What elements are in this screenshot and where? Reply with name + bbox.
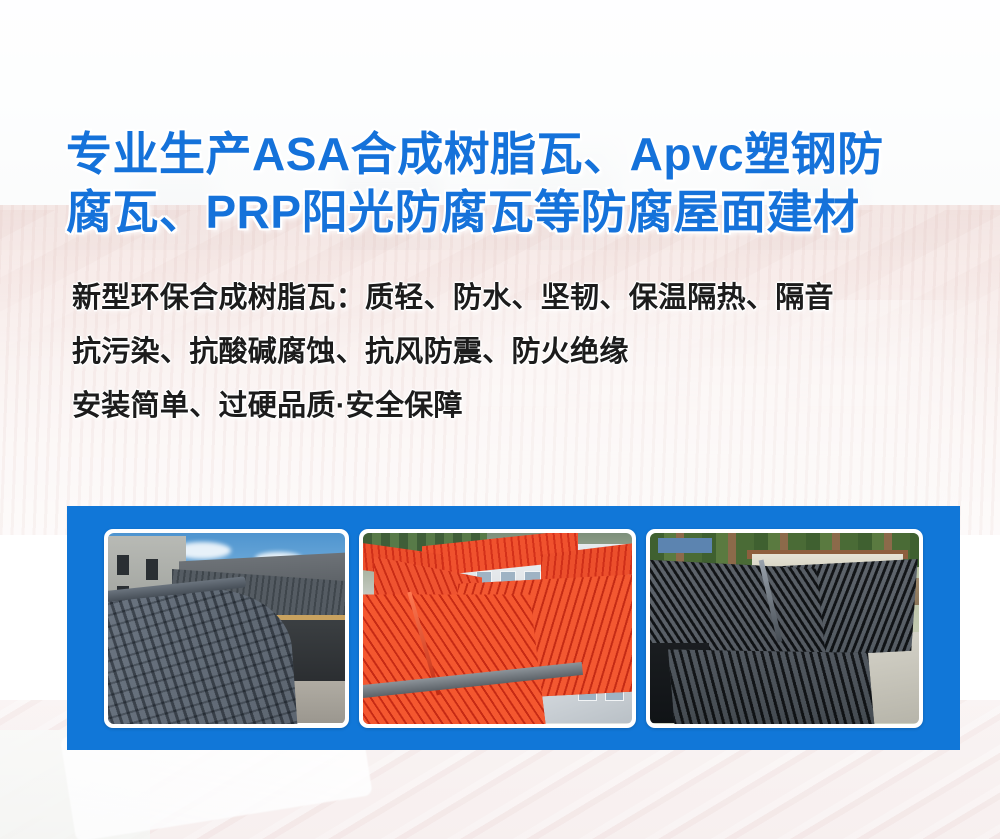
photo3-blue-shed bbox=[658, 538, 712, 553]
feature-list: 新型环保合成树脂瓦：质轻、防水、坚韧、保温隔热、隔音 抗污染、抗酸碱腐蚀、抗风防… bbox=[72, 271, 962, 433]
gallery-photo-frame-1[interactable] bbox=[104, 529, 349, 728]
photo3-lower-roof bbox=[667, 649, 874, 723]
photo2-main-left-roof bbox=[363, 594, 548, 723]
photo-gallery bbox=[67, 506, 960, 750]
gallery-photo-frame-2[interactable] bbox=[359, 529, 636, 728]
red-resin-tile-roof-photo[interactable] bbox=[363, 533, 632, 724]
feature-line-1: 新型环保合成树脂瓦：质轻、防水、坚韧、保温隔热、隔音 bbox=[72, 271, 962, 325]
black-resin-tile-roof-photo[interactable] bbox=[650, 533, 919, 724]
photo1-window bbox=[117, 555, 129, 574]
content-layer: 专业生产ASA合成树脂瓦、Apvc塑钢防 腐瓦、PRP阳光防腐瓦等防腐屋面建材 … bbox=[0, 0, 1000, 839]
photo1-window bbox=[146, 559, 158, 580]
promo-banner-page: 专业生产ASA合成树脂瓦、Apvc塑钢防 腐瓦、PRP阳光防腐瓦等防腐屋面建材 … bbox=[0, 0, 1000, 839]
grey-resin-tile-roof-photo[interactable] bbox=[108, 533, 345, 724]
gallery-photo-frame-3[interactable] bbox=[646, 529, 923, 728]
feature-line-2: 抗污染、抗酸碱腐蚀、抗风防震、防火绝缘 bbox=[72, 325, 962, 379]
feature-line-3: 安装简单、过硬品质·安全保障 bbox=[72, 379, 962, 433]
page-title: 专业生产ASA合成树脂瓦、Apvc塑钢防 腐瓦、PRP阳光防腐瓦等防腐屋面建材 bbox=[66, 125, 946, 241]
